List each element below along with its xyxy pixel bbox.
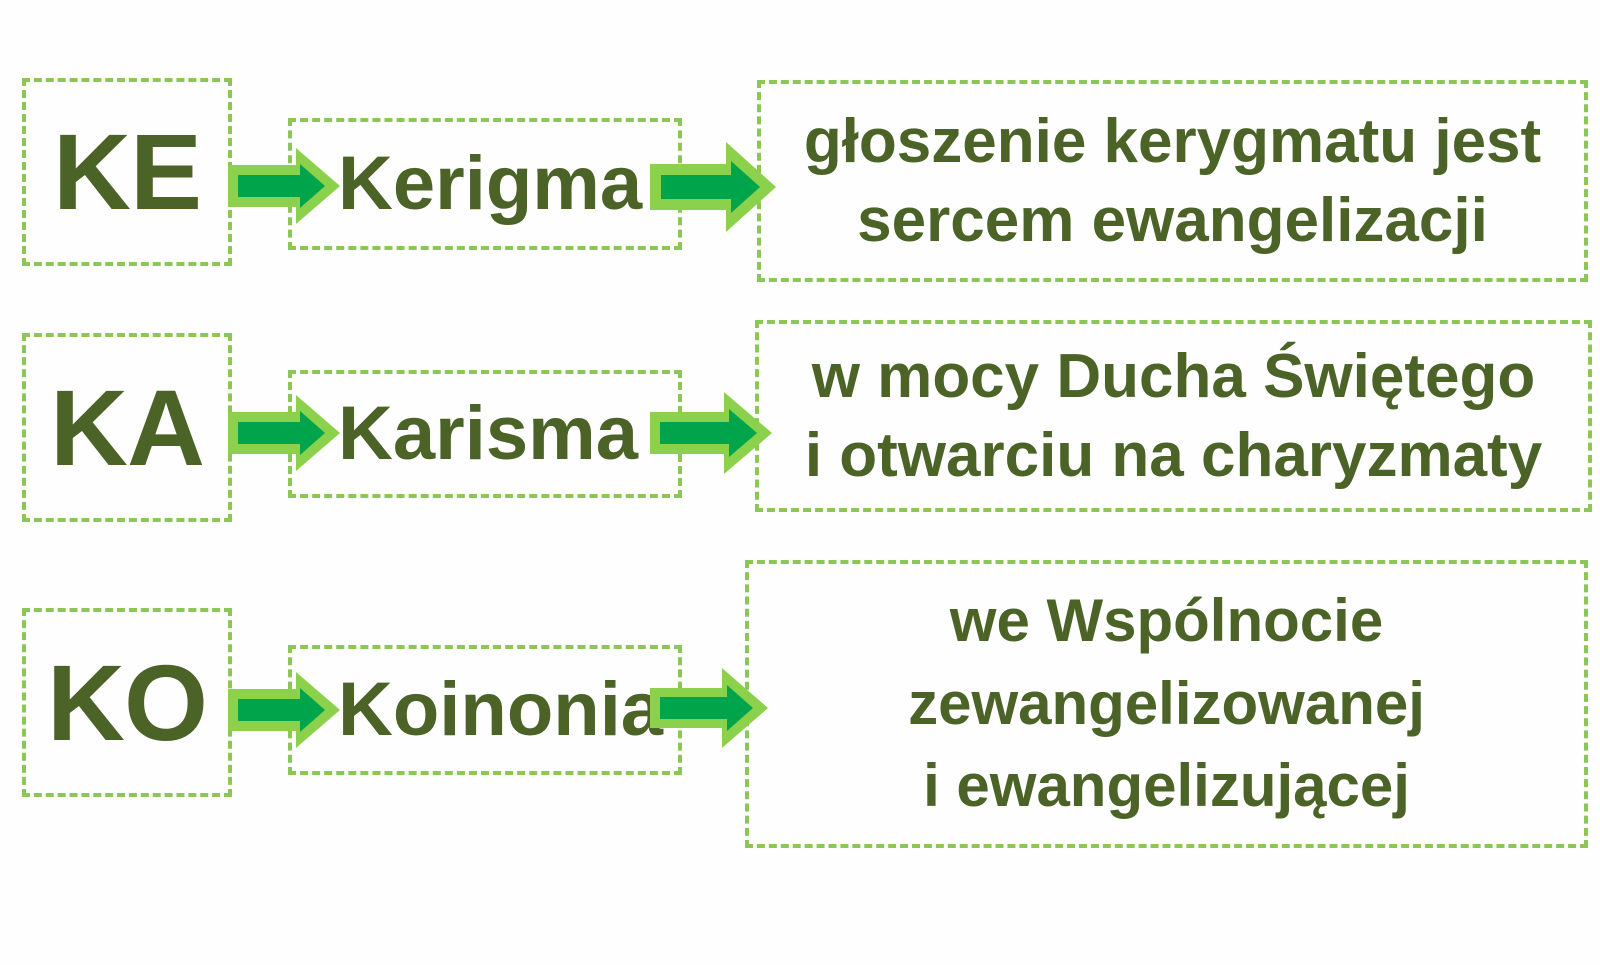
abbr-box-ka: KA [22,333,232,522]
right-block-arrow-icon-row3-second [650,668,768,748]
description-line: we Wspólnocie [767,580,1566,663]
right-block-arrow-icon-row2-first [228,395,340,471]
description-box-kerigma: głoszenie kerygmatu jest sercem ewangeli… [757,80,1588,282]
description-text-koinonia: we Wspólnocie zewangelizowanej i ewangel… [749,580,1584,828]
right-block-arrow-icon-row1-second [650,142,776,232]
term-label-kerigma: Kerigma [338,146,642,222]
abbr-label-ke: KE [53,118,201,226]
description-line: w mocy Ducha Świętego [777,337,1570,416]
description-line: i otwarciu na charyzmaty [777,416,1570,495]
right-block-arrow-icon-row1-first [228,148,340,224]
description-line: głoszenie kerygmatu jest [779,102,1566,181]
abbr-box-ke: KE [22,78,232,266]
abbr-label-ko: KO [47,649,207,757]
description-text-kerigma: głoszenie kerygmatu jest sercem ewangeli… [761,102,1584,261]
right-block-arrow-icon-row2-second [650,392,772,474]
description-line: zewangelizowanej [767,663,1566,746]
description-text-karisma: w mocy Ducha Świętego i otwarciu na char… [759,337,1588,496]
abbr-box-ko: KO [22,608,232,797]
term-label-karisma: Karisma [338,396,638,472]
term-box-karisma: Karisma [288,370,682,498]
term-label-koinonia: Koinonia [338,672,663,748]
right-block-arrow-icon-row3-first [228,672,340,748]
term-box-koinonia: Koinonia [288,645,682,775]
description-line: i ewangelizującej [767,745,1566,828]
term-box-kerigma: Kerigma [288,118,682,250]
description-box-karisma: w mocy Ducha Świętego i otwarciu na char… [755,320,1592,512]
ke-ka-ko-diagram: KE Kerigma głoszenie kerygmatu jest serc… [0,0,1600,965]
description-line: sercem ewangelizacji [779,181,1566,260]
description-box-koinonia: we Wspólnocie zewangelizowanej i ewangel… [745,560,1588,848]
abbr-label-ka: KA [50,374,204,482]
